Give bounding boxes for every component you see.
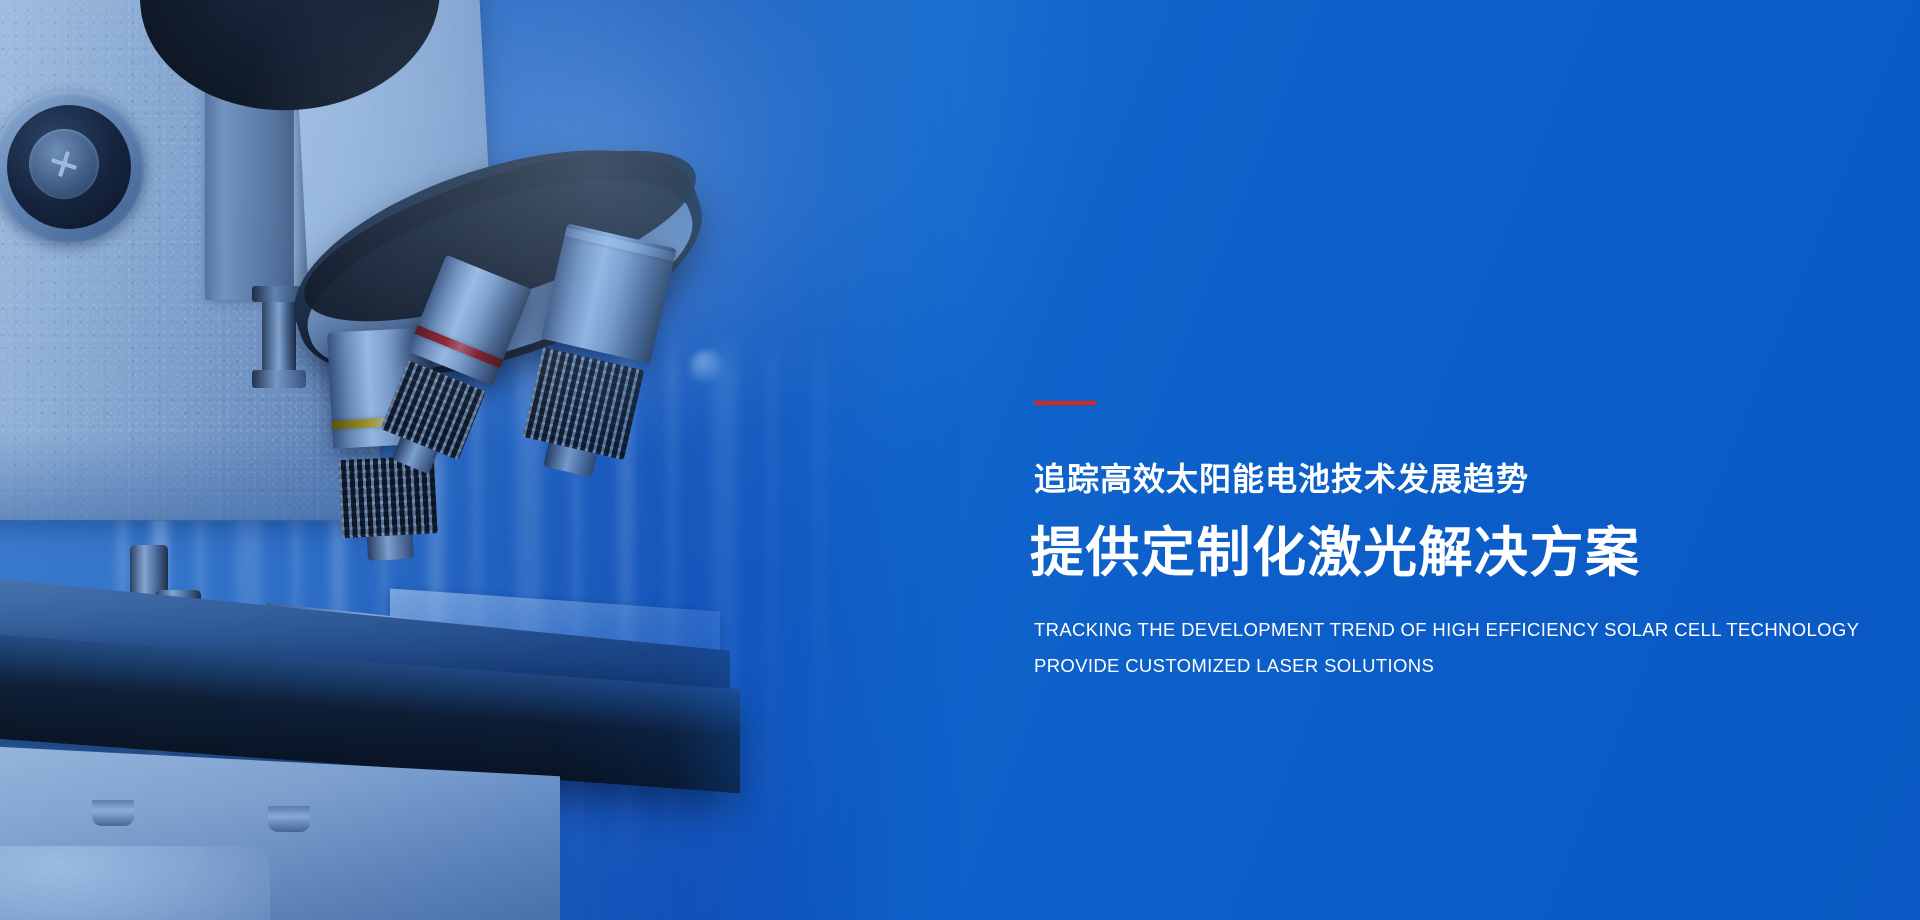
microscope-photo xyxy=(0,0,960,920)
hero-headline: 提供定制化激光解决方案 xyxy=(1030,521,1641,586)
hero-subtitle-line-2: PROVIDE CUSTOMIZED LASER SOLUTIONS xyxy=(1034,654,1434,679)
hero-kicker: 追踪高效太阳能电池技术发展趋势 xyxy=(1034,459,1529,499)
hero-subtitle-line-1: TRACKING THE DEVELOPMENT TREND OF HIGH E… xyxy=(1034,618,1859,643)
hero-content: 追踪高效太阳能电池技术发展趋势 提供定制化激光解决方案 TRACKING THE… xyxy=(1034,0,1854,920)
hero-banner: 追踪高效太阳能电池技术发展趋势 提供定制化激光解决方案 TRACKING THE… xyxy=(0,0,1920,920)
photo-highlight-glow xyxy=(0,0,960,920)
accent-rule xyxy=(1034,401,1096,405)
